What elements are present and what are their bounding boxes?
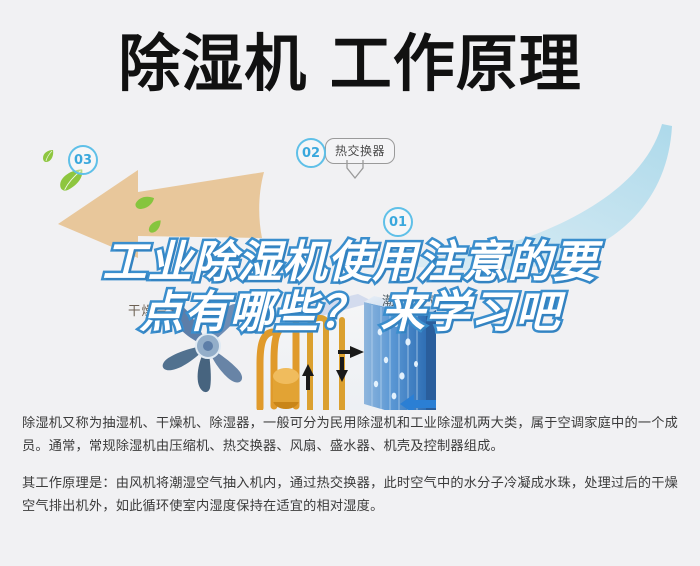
humid-air-swoosh (350, 122, 680, 272)
body-paragraph-1: 除湿机又称为抽湿机、干燥机、除湿器，一般可分为民用除湿机和工业除湿机两大类，属于… (22, 412, 678, 458)
label-dry-air: 干燥空气 (128, 300, 182, 319)
label-humid-air: 潮湿空气 (382, 290, 436, 309)
working-principle-illustration: 热交换器 03 02 01 干燥空气 潮湿空气 水箱 02 冷凝成水珠 03 从… (0, 120, 700, 410)
page-title: 除湿机 工作原理 (0, 18, 700, 110)
dehumidifier-infographic: 除湿机 工作原理 (0, 0, 700, 566)
callout-tail-icon (345, 160, 367, 180)
illustration-badge-02: 02 (296, 138, 326, 168)
body-paragraph-2: 其工作原理是：由风机将潮湿空气抽入机内，通过热交换器，此时空气中的水分子冷凝成水… (22, 472, 678, 518)
body-copy: 除湿机又称为抽湿机、干燥机、除湿器，一般可分为民用除湿机和工业除湿机两大类，属于… (0, 412, 700, 518)
page-title-text: 除湿机 工作原理 (118, 33, 582, 95)
leaf-icon (40, 148, 56, 164)
illustration-badge-01: 01 (383, 207, 413, 237)
illustration-badge-03: 03 (68, 145, 98, 175)
